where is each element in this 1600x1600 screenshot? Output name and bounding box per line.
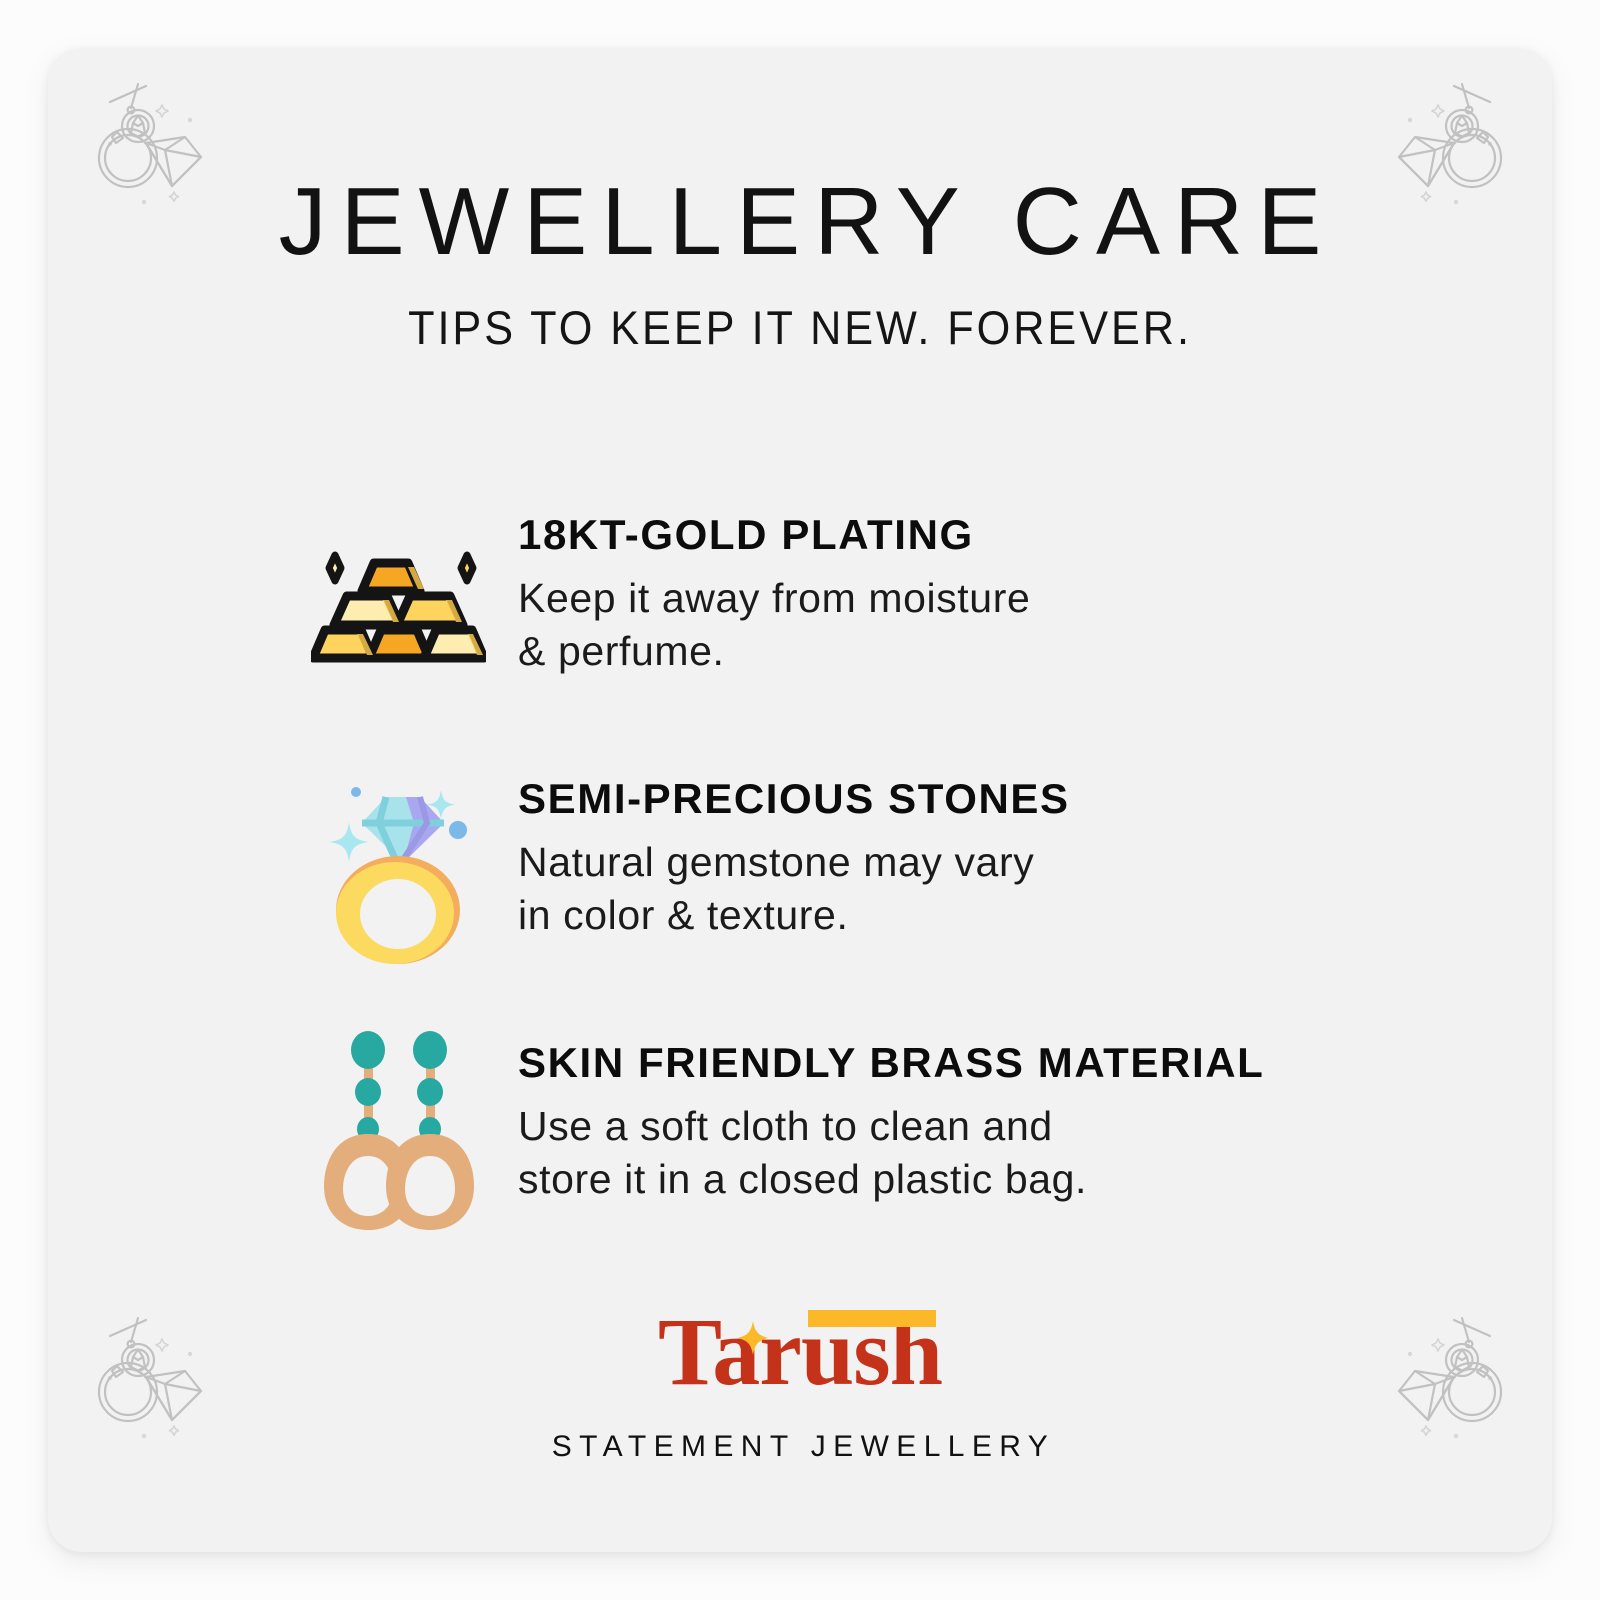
brand-tagline: STATEMENT JEWELLERY [48, 1430, 1552, 1464]
tip-row-semi-precious-stones: SEMI-PRECIOUS STONES Natural gemstone ma… [48, 764, 1552, 964]
care-card: JEWELLERY CARE TIPS TO KEEP IT NEW. FORE… [48, 48, 1552, 1552]
infographic-canvas: JEWELLERY CARE TIPS TO KEEP IT NEW. FORE… [0, 0, 1600, 1600]
tip-text-block: SKIN FRIENDLY BRASS MATERIAL Use a soft … [496, 1028, 1264, 1205]
tip-row-gold-plating: 18KT-GOLD PLATING Keep it away from mois… [48, 500, 1552, 700]
tip-text-block: 18KT-GOLD PLATING Keep it away from mois… [496, 500, 1030, 677]
tip-text-block: SEMI-PRECIOUS STONES Natural gemstone ma… [496, 764, 1070, 941]
logo-gold-bar [808, 1310, 936, 1327]
logo-sparkle-icon [738, 1321, 768, 1355]
footer-block: Tarush STATEMENT JEWELLERY [48, 1304, 1552, 1464]
gem-shape [362, 797, 444, 863]
tip-row-brass-material: SKIN FRIENDLY BRASS MATERIAL Use a soft … [48, 1028, 1552, 1228]
gold-bars-icon [300, 500, 496, 700]
tip-heading: 18KT-GOLD PLATING [518, 512, 1030, 558]
diamond-ring-icon [300, 764, 496, 964]
brand-logo[interactable]: Tarush [658, 1304, 942, 1400]
earring-right [386, 1031, 474, 1230]
page-title: JEWELLERY CARE [48, 170, 1552, 274]
tip-body: Keep it away from moisture & perfume. [518, 572, 1030, 677]
tip-heading: SKIN FRIENDLY BRASS MATERIAL [518, 1040, 1264, 1086]
earrings-icon [300, 1028, 496, 1228]
page-subtitle: TIPS TO KEEP IT NEW. FOREVER. [108, 300, 1492, 355]
dangling-earring-icon [110, 84, 154, 142]
tips-list: 18KT-GOLD PLATING Keep it away from mois… [48, 500, 1552, 1292]
header-block: JEWELLERY CARE TIPS TO KEEP IT NEW. FORE… [48, 170, 1552, 355]
tip-body: Use a soft cloth to clean and store it i… [518, 1100, 1264, 1205]
dangling-earring-icon [1446, 84, 1490, 142]
tip-body: Natural gemstone may vary in color & tex… [518, 836, 1070, 941]
tip-heading: SEMI-PRECIOUS STONES [518, 776, 1070, 822]
